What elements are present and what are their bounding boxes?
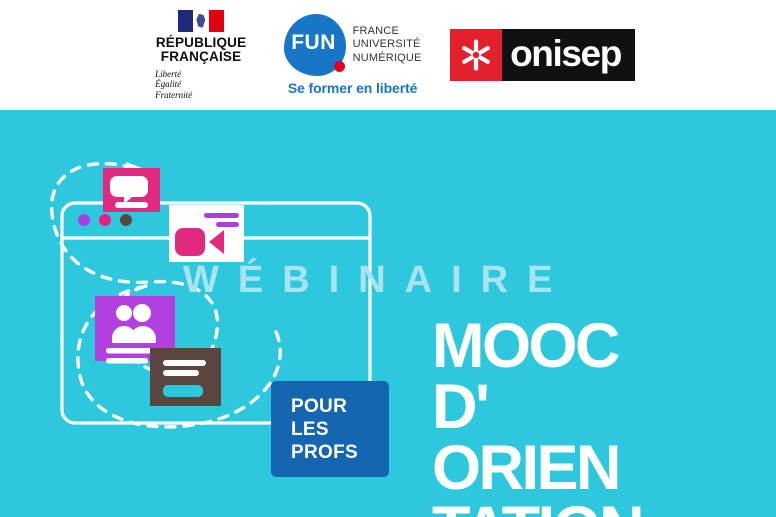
pour-les-profs-badge: POUR LES PROFS: [271, 381, 389, 477]
onisep-wordmark-text: onisep: [510, 35, 621, 72]
republique-francaise-logo: RÉPUBLIQUE FRANÇAISE Liberté Égalité Fra…: [141, 10, 261, 101]
motto-egalite: Égalité: [155, 79, 261, 90]
onisep-asterisk-icon: [450, 29, 502, 81]
republique-francaise-title: RÉPUBLIQUE FRANÇAISE: [156, 36, 247, 64]
headline-line-3: ORIEN: [432, 438, 642, 499]
onisep-wordmark: onisep: [502, 29, 635, 81]
browser-dot-1: [78, 214, 90, 226]
french-flag-icon: [178, 10, 224, 32]
webinar-banner: WÉBINAIRE MOOC D' ORIEN TATION POUR LES …: [0, 110, 776, 517]
onisep-logo: onisep: [450, 29, 635, 81]
video-card-bar-short: [216, 222, 239, 227]
logo-header: RÉPUBLIQUE FRANÇAISE Liberté Égalité Fra…: [0, 0, 776, 110]
video-card: [169, 205, 244, 262]
republique-francaise-motto: Liberté Égalité Fraternité: [141, 69, 261, 101]
document-card-accent: [163, 385, 203, 397]
fun-tagline: Se former en liberté: [288, 80, 418, 96]
fun-word-france: FRANCE: [353, 25, 422, 39]
fun-blob-icon: FUN: [284, 14, 346, 76]
headline-line-4: TATION: [432, 499, 642, 517]
rf-title-line2: FRANÇAISE: [156, 50, 247, 64]
fun-mooc-logo: FUN FRANCE UNIVERSITÉ NUMÉRIQUE Se forme…: [275, 14, 430, 96]
fun-fullname: FRANCE UNIVERSITÉ NUMÉRIQUE: [353, 25, 422, 66]
fun-word-numerique: NUMÉRIQUE: [353, 52, 422, 66]
video-card-bar-long: [204, 213, 239, 218]
browser-dot-2: [99, 214, 111, 226]
badge-line-1: POUR: [291, 395, 389, 418]
motto-fraternite: Fraternité: [155, 90, 261, 101]
banner-kicker: WÉBINAIRE: [183, 258, 571, 302]
fun-logo-row: FUN FRANCE UNIVERSITÉ NUMÉRIQUE: [284, 14, 422, 76]
badge-line-2: LES: [291, 418, 389, 441]
document-card: [150, 348, 221, 406]
browser-dot-3: [120, 214, 132, 226]
chat-card: [103, 168, 160, 212]
fun-red-dot-icon: [334, 61, 345, 72]
webinar-poster: RÉPUBLIQUE FRANÇAISE Liberté Égalité Fra…: [0, 0, 776, 517]
rf-title-line1: RÉPUBLIQUE: [156, 36, 247, 50]
headline-line-1: MOOC: [432, 316, 642, 377]
fun-acronym: FUN: [291, 31, 336, 55]
headline-line-2: D': [432, 377, 642, 438]
badge-line-3: PROFS: [291, 441, 389, 464]
motto-liberte: Liberté: [155, 69, 261, 80]
banner-headline: MOOC D' ORIEN TATION: [432, 316, 642, 517]
fun-word-universite: UNIVERSITÉ: [353, 38, 422, 52]
